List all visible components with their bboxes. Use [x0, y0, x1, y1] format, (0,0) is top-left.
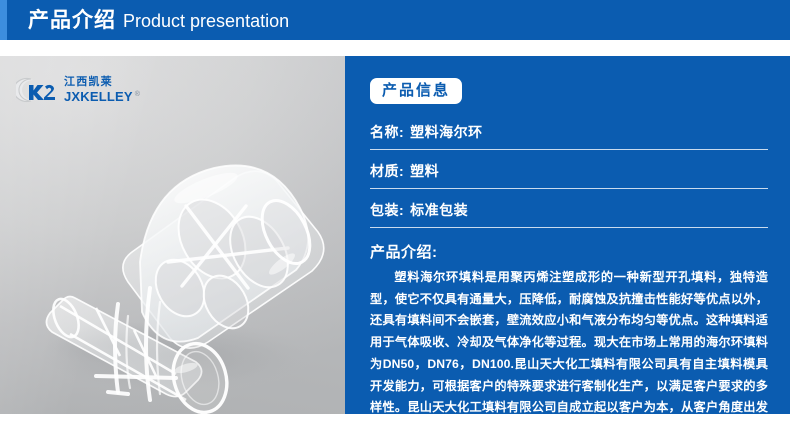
spec-row-name: 名称: 塑料海尔环 — [370, 120, 768, 150]
spec-label: 名称: — [370, 122, 404, 142]
spec-value: 标准包装 — [410, 200, 468, 220]
header-accent-bar — [0, 0, 7, 40]
product-presentation-page: 产品介绍 Product presentation — [0, 0, 790, 424]
logo-company-en: JXKELLEY — [64, 90, 133, 103]
description-title: 产品介绍: — [370, 241, 768, 262]
header-title-cn: 产品介绍 — [28, 10, 116, 31]
logo-text: 江西凯莱 JXKELLEY ® — [64, 77, 140, 103]
header-title-en: Product presentation — [123, 12, 289, 30]
product-spec-list: 名称: 塑料海尔环 材质: 塑料 包装: 标准包装 — [370, 120, 768, 228]
spec-value: 塑料 — [410, 161, 439, 181]
logo-en-row: JXKELLEY ® — [64, 90, 140, 103]
product-info-panel: 产品信息 名称: 塑料海尔环 材质: 塑料 包装: 标准包装 产品介绍: 塑料海… — [345, 56, 790, 414]
logo-company-cn: 江西凯莱 — [64, 77, 140, 88]
spec-label: 包装: — [370, 200, 404, 220]
spec-row-packaging: 包装: 标准包装 — [370, 198, 768, 228]
spec-value: 塑料海尔环 — [410, 122, 483, 142]
product-photo: 江西凯莱 JXKELLEY ® — [0, 56, 345, 414]
description-body: 塑料海尔环填料是用聚丙烯注塑成形的一种新型开孔填料，独特造型，使它不仅具有通量大… — [370, 267, 768, 424]
content-area: 江西凯莱 JXKELLEY ® 产品信息 名称: 塑料海尔环 材质: 塑料 — [0, 56, 790, 414]
header-title-group: 产品介绍 Product presentation — [7, 10, 289, 31]
section-header-banner: 产品介绍 Product presentation — [0, 0, 790, 40]
product-image-heilex-ring — [0, 56, 345, 414]
registered-trademark-icon: ® — [135, 91, 140, 98]
k2-monogram-icon — [16, 74, 62, 106]
spec-label: 材质: — [370, 161, 404, 181]
spec-row-material: 材质: 塑料 — [370, 159, 768, 189]
brand-logo: 江西凯莱 JXKELLEY ® — [16, 74, 140, 106]
product-info-badge: 产品信息 — [370, 78, 462, 104]
